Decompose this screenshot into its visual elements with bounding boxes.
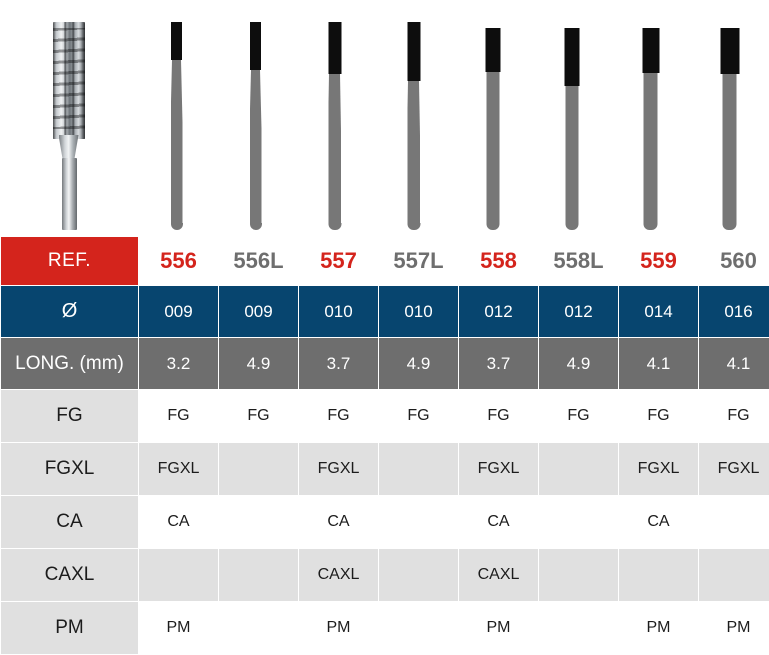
row-label-: Ø: [1, 286, 138, 337]
bur-silhouette-row: [137, 0, 769, 236]
bur-shank-tip: [171, 223, 183, 230]
bur-icon: [250, 22, 262, 230]
cell-fg-8: FG: [699, 390, 769, 442]
row-label-fg: FG: [1, 390, 138, 442]
cell--5: 012: [459, 286, 538, 337]
bur-photo-head: [53, 22, 85, 139]
table-row: FGFGFGFGFGFGFGFGFG: [1, 390, 769, 442]
bur-photo-cell: [0, 0, 137, 236]
cell-caxl-7: [619, 549, 698, 601]
bur-photo-shank: [62, 158, 77, 230]
table-row: FGXLFGXLFGXLFGXLFGXLFGXL: [1, 443, 769, 495]
ref-cell-559[interactable]: 559: [619, 237, 698, 285]
cell-fgxl-1: FGXL: [139, 443, 218, 495]
cell-caxl-4: [379, 549, 458, 601]
bur-silhouette-557l: [374, 0, 453, 236]
cell-caxl-8: [699, 549, 769, 601]
cell-long-mm-1: 3.2: [139, 338, 218, 389]
ref-cell-557l[interactable]: 557L: [379, 237, 458, 285]
ref-cell-556[interactable]: 556: [139, 237, 218, 285]
cell--1: 009: [139, 286, 218, 337]
bur-icon: [642, 28, 659, 230]
cell-ca-6: [539, 496, 618, 548]
bur-head: [485, 28, 500, 72]
cell-pm-8: PM: [699, 602, 769, 654]
bur-icon: [720, 28, 739, 230]
bur-silhouette-557: [295, 0, 374, 236]
bur-silhouette-559: [611, 0, 690, 236]
cell-caxl-1: [139, 549, 218, 601]
table-row: CACACACACA: [1, 496, 769, 548]
bur-head: [720, 28, 739, 74]
table-row: REF.556556L557557L558558L559560: [1, 237, 769, 285]
cell-ca-7: CA: [619, 496, 698, 548]
row-label-fgxl: FGXL: [1, 443, 138, 495]
cell-fg-4: FG: [379, 390, 458, 442]
cell--8: 016: [699, 286, 769, 337]
cell-pm-3: PM: [299, 602, 378, 654]
cell-pm-4: [379, 602, 458, 654]
ref-cell-557[interactable]: 557: [299, 237, 378, 285]
cell-pm-2: [219, 602, 298, 654]
bur-silhouette-556l: [216, 0, 295, 236]
bur-silhouette-556: [137, 0, 216, 236]
bur-shank: [171, 60, 183, 224]
bur-shank: [250, 70, 262, 224]
cell-fgxl-5: FGXL: [459, 443, 538, 495]
cell-long-mm-5: 3.7: [459, 338, 538, 389]
cell-ca-4: [379, 496, 458, 548]
cell-long-mm-8: 4.1: [699, 338, 769, 389]
bur-shank-tip: [407, 223, 420, 230]
row-label-long-mm: LONG. (mm): [1, 338, 138, 389]
bur-icon: [564, 28, 579, 230]
bur-icon: [328, 22, 341, 230]
dental-bur-photo-icon: [46, 22, 92, 230]
bur-icon: [485, 28, 500, 230]
bur-icon: [171, 22, 183, 230]
cell-caxl-2: [219, 549, 298, 601]
cell--7: 014: [619, 286, 698, 337]
cell-fg-3: FG: [299, 390, 378, 442]
cell-fgxl-6: [539, 443, 618, 495]
bur-silhouette-558: [453, 0, 532, 236]
cell-fgxl-4: [379, 443, 458, 495]
cell-pm-5: PM: [459, 602, 538, 654]
bur-icon: [407, 22, 420, 230]
cell-fg-1: FG: [139, 390, 218, 442]
cell--6: 012: [539, 286, 618, 337]
cell-fgxl-7: FGXL: [619, 443, 698, 495]
cell-pm-1: PM: [139, 602, 218, 654]
cell-long-mm-3: 3.7: [299, 338, 378, 389]
ref-cell-560[interactable]: 560: [699, 237, 769, 285]
cell-fg-7: FG: [619, 390, 698, 442]
cell--2: 009: [219, 286, 298, 337]
table-row: CAXLCAXLCAXL: [1, 549, 769, 601]
product-spec-sheet: REF.556556L557557L558558L559560Ø00900901…: [0, 0, 769, 649]
cell-fgxl-8: FGXL: [699, 443, 769, 495]
cell-ca-2: [219, 496, 298, 548]
cell-pm-6: [539, 602, 618, 654]
bur-head: [250, 22, 261, 70]
bur-head: [407, 22, 420, 81]
cell-long-mm-6: 4.9: [539, 338, 618, 389]
cell-caxl-5: CAXL: [459, 549, 538, 601]
cell-fg-5: FG: [459, 390, 538, 442]
row-label-pm: PM: [1, 602, 138, 654]
row-label-ref: REF.: [1, 237, 138, 285]
bur-shank: [486, 72, 499, 230]
row-label-ca: CA: [1, 496, 138, 548]
table-row: Ø009009010010012012014016: [1, 286, 769, 337]
cell-caxl-6: [539, 549, 618, 601]
cell-pm-7: PM: [619, 602, 698, 654]
cell-long-mm-2: 4.9: [219, 338, 298, 389]
cell-fgxl-3: FGXL: [299, 443, 378, 495]
bur-shank: [644, 73, 658, 230]
bur-shank-tip: [250, 223, 262, 230]
bur-image-strip: [0, 0, 769, 236]
cell-ca-8: [699, 496, 769, 548]
bur-shank: [565, 86, 578, 230]
bur-silhouette-558l: [532, 0, 611, 236]
bur-shank: [723, 74, 737, 230]
bur-head: [564, 28, 579, 86]
cell-ca-5: CA: [459, 496, 538, 548]
ref-cell-558[interactable]: 558: [459, 237, 538, 285]
bur-shank: [407, 81, 420, 224]
bur-silhouette-560: [690, 0, 769, 236]
bur-head: [642, 28, 659, 73]
ref-cell-558l[interactable]: 558L: [539, 237, 618, 285]
bur-shank: [328, 74, 341, 224]
cell-fg-6: FG: [539, 390, 618, 442]
cell-ca-3: CA: [299, 496, 378, 548]
table-row: PMPMPMPMPMPM: [1, 602, 769, 654]
bur-head: [171, 22, 182, 60]
cell--3: 010: [299, 286, 378, 337]
cell--4: 010: [379, 286, 458, 337]
cell-long-mm-7: 4.1: [619, 338, 698, 389]
cell-fg-2: FG: [219, 390, 298, 442]
cell-fgxl-2: [219, 443, 298, 495]
specification-table: REF.556556L557557L558558L559560Ø00900901…: [0, 236, 769, 655]
cell-long-mm-4: 4.9: [379, 338, 458, 389]
ref-cell-556l[interactable]: 556L: [219, 237, 298, 285]
row-label-caxl: CAXL: [1, 549, 138, 601]
bur-shank-tip: [328, 223, 341, 230]
cell-caxl-3: CAXL: [299, 549, 378, 601]
bur-head: [328, 22, 341, 74]
table-row: LONG. (mm)3.24.93.74.93.74.94.14.1: [1, 338, 769, 389]
cell-ca-1: CA: [139, 496, 218, 548]
